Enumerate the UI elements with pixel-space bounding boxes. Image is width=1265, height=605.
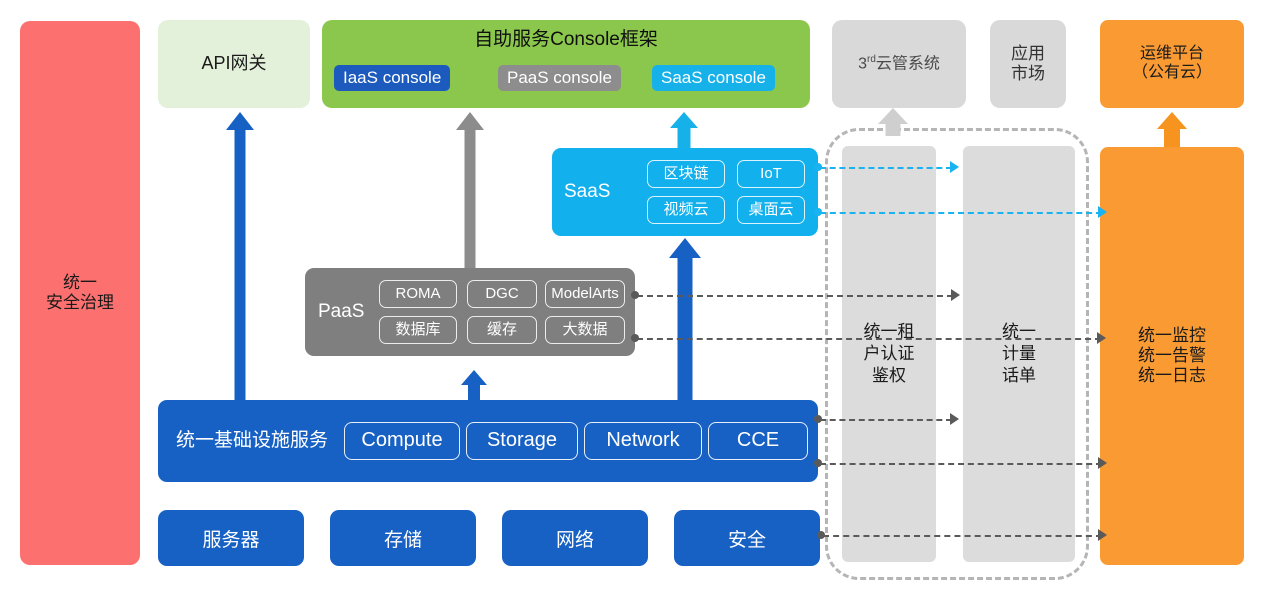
hardware-box-server: 服务器 <box>158 510 304 566</box>
arrowhead-paas-to-auth <box>951 289 960 301</box>
saas-chip-blockchain: 区块链 <box>647 160 725 188</box>
iaas-console-label: IaaS console <box>343 68 441 88</box>
unified-security-governance-panel: 统一 安全治理 <box>20 21 140 565</box>
saas-layer: SaaS 区块链 IoT 视频云 桌面云 <box>552 148 818 236</box>
architecture-diagram: 统一 安全治理 API网关 自助服务Console框架 IaaS console… <box>0 0 1265 605</box>
connector-paas-to-auth <box>637 295 953 297</box>
self-service-console-frame: 自助服务Console框架 IaaS console PaaS console … <box>322 20 810 108</box>
paas-chip-modelarts: ModelArts <box>545 280 625 308</box>
hardware-box-storage: 存储 <box>330 510 476 566</box>
saas-chip-iot: IoT <box>737 160 805 188</box>
connector-iaas-to-auth <box>820 419 952 421</box>
paas-chip-bigdata: 大数据 <box>545 316 625 344</box>
arrowhead-hardware-to-ops <box>1098 529 1107 541</box>
ops-platform-header-label: 运维平台 （公有云） <box>1132 45 1212 83</box>
unified-tenant-auth-column: 统一租 户认证 鉴权 <box>842 146 936 562</box>
arrowhead-iaas-to-auth <box>950 413 959 425</box>
api-gateway-box: API网关 <box>158 20 310 108</box>
ops-platform-body-label: 统一监控 统一告警 统一日志 <box>1138 326 1206 386</box>
third-party-cloud-management-box: 3rd云管系统 <box>832 20 966 108</box>
arrowhead-saas-to-auth <box>950 161 959 173</box>
arrowhead-paas-to-ops <box>1097 332 1106 344</box>
ops-platform-header-box: 运维平台 （公有云） <box>1100 20 1244 108</box>
iaas-layer-label: 统一基础设施服务 <box>176 430 328 452</box>
saas-chip-desktop-cloud: 桌面云 <box>737 196 805 224</box>
connector-paas-to-ops <box>637 338 1101 340</box>
arrow-iaas-to-paas <box>460 370 488 400</box>
saas-chip-video-cloud: 视频云 <box>647 196 725 224</box>
unified-metering-billing-label: 统一 计量 话单 <box>1002 321 1036 387</box>
app-market-label: 应用 市场 <box>1011 44 1045 84</box>
hardware-box-network: 网络 <box>502 510 648 566</box>
paas-chip-dgc: DGC <box>467 280 537 308</box>
iaas-chip-storage: Storage <box>466 422 578 460</box>
console-frame-title: 自助服务Console框架 <box>322 29 810 51</box>
connector-saas-to-ops <box>820 212 1102 214</box>
paas-console-button[interactable]: PaaS console <box>498 65 621 91</box>
iaas-chip-network: Network <box>584 422 702 460</box>
arrow-iaas-to-api-gateway <box>226 112 254 400</box>
saas-layer-label: SaaS <box>564 181 610 203</box>
unified-metering-billing-column: 统一 计量 话单 <box>963 146 1075 562</box>
arrow-ops-column-to-ops-header <box>1157 112 1187 147</box>
arrowhead-iaas-to-ops <box>1098 457 1107 469</box>
third-party-cloud-label: 3rd云管系统 <box>858 54 940 74</box>
connector-hardware-to-ops <box>823 535 1102 537</box>
iaas-console-button[interactable]: IaaS console <box>334 65 450 91</box>
arrow-paas-to-console <box>456 112 484 268</box>
saas-console-label: SaaS console <box>661 68 766 88</box>
arrowhead-saas-to-ops <box>1098 206 1107 218</box>
arrow-iaas-to-saas <box>669 238 701 400</box>
hardware-box-security: 安全 <box>674 510 820 566</box>
unified-tenant-auth-label: 统一租 户认证 鉴权 <box>864 321 915 387</box>
arrow-saas-to-saas-console <box>670 112 698 148</box>
governance-label: 统一 安全治理 <box>46 273 114 313</box>
connector-saas-to-auth <box>820 167 952 169</box>
paas-chip-database: 数据库 <box>379 316 457 344</box>
ops-platform-column: 统一监控 统一告警 统一日志 <box>1100 147 1244 565</box>
app-market-box: 应用 市场 <box>990 20 1066 108</box>
arrow-shared-to-third-party-cloud <box>878 108 908 136</box>
paas-chip-roma: ROMA <box>379 280 457 308</box>
saas-console-button[interactable]: SaaS console <box>652 65 775 91</box>
iaas-chip-compute: Compute <box>344 422 460 460</box>
paas-chip-cache: 缓存 <box>467 316 537 344</box>
paas-layer: PaaS ROMA DGC ModelArts 数据库 缓存 大数据 <box>305 268 635 356</box>
paas-console-label: PaaS console <box>507 68 612 88</box>
connector-iaas-to-ops <box>820 463 1102 465</box>
iaas-layer: 统一基础设施服务 Compute Storage Network CCE <box>158 400 818 482</box>
paas-layer-label: PaaS <box>318 301 364 323</box>
iaas-chip-cce: CCE <box>708 422 808 460</box>
api-gateway-label: API网关 <box>201 53 266 74</box>
